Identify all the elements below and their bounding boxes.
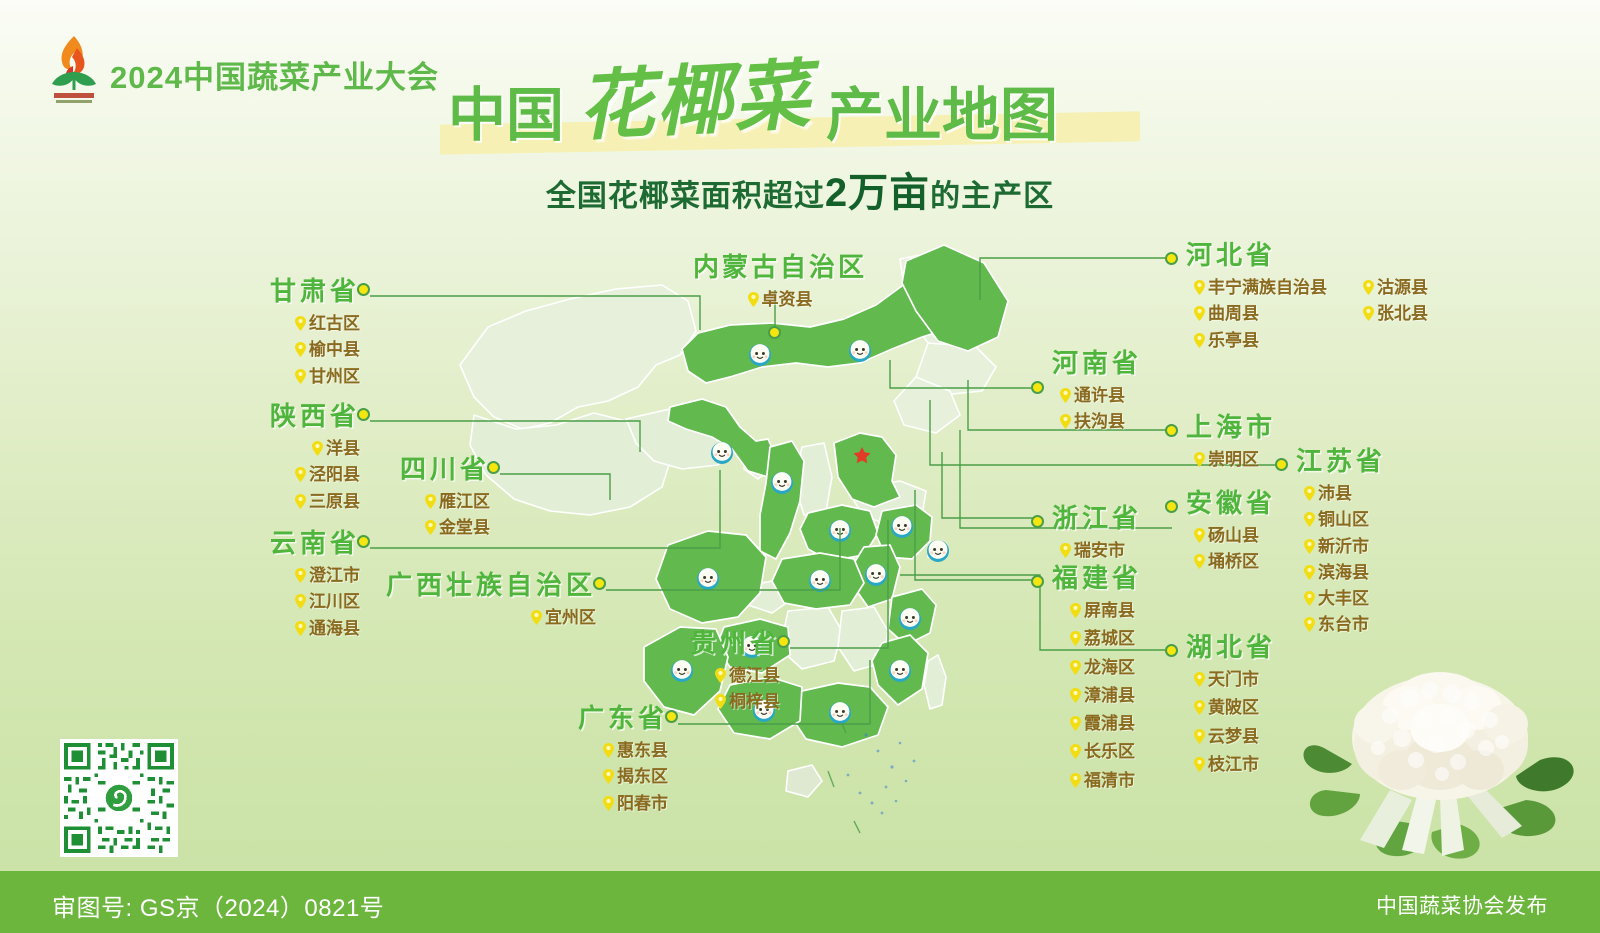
province-name: 河北省 (1186, 242, 1428, 268)
city-label: 阳春市 (617, 793, 668, 814)
map-pin-icon (748, 292, 759, 307)
city-item[interactable]: 雁江区 (425, 491, 490, 512)
city-label: 沽源县 (1377, 277, 1428, 298)
map-pin-icon (1070, 603, 1081, 618)
map-pin-icon (1060, 414, 1071, 429)
city-item[interactable]: 通许县 (1060, 385, 1142, 406)
city-list: 红古区 榆中县 甘州区 (110, 313, 360, 387)
city-list: 屏南县 荔城区 龙海区 漳浦县 霞浦县 长乐区 福清市 (1070, 600, 1142, 791)
city-item[interactable]: 红古区 (295, 313, 360, 334)
city-item[interactable]: 瑞安市 (1060, 540, 1142, 561)
map-pin-icon (1070, 744, 1081, 759)
city-item[interactable]: 云梦县 (1194, 726, 1276, 747)
flame-leaf-logo-icon (44, 32, 104, 108)
city-list: 通许县 扶沟县 (1060, 385, 1142, 433)
map-pin-icon (1194, 333, 1205, 348)
province-group-fujian[interactable]: 福建省 屏南县 荔城区 龙海区 漳浦县 霞浦县 长乐区 福清市 (1052, 565, 1142, 791)
map-pin-icon (1304, 486, 1315, 501)
province-group-shanghai[interactable]: 上海市 崇明区 (1186, 414, 1276, 470)
map-pin-icon (1363, 306, 1374, 321)
city-label: 崇明区 (1208, 449, 1259, 470)
map-pin-icon (1194, 306, 1205, 321)
province-node[interactable] (665, 710, 678, 723)
province-node[interactable] (357, 408, 370, 421)
city-list: 丰宁满族自治县 沽源县 曲周县 张北县 乐亭县 (1194, 277, 1428, 351)
province-name: 湖北省 (1186, 634, 1276, 660)
publisher-label: 中国蔬菜协会发布 (1376, 890, 1548, 920)
city-item[interactable]: 天门市 (1194, 669, 1276, 690)
province-node[interactable] (777, 635, 790, 648)
province-name: 浙江省 (1052, 505, 1142, 531)
map-pin-icon (1194, 700, 1205, 715)
map-pin-icon (1194, 757, 1205, 772)
city-label: 丰宁满族自治县 (1208, 277, 1327, 298)
city-label: 榆中县 (309, 339, 360, 360)
map-pin-icon (1070, 688, 1081, 703)
city-list: 卓资县 (660, 289, 900, 310)
province-node[interactable] (1031, 575, 1044, 588)
map-pin-icon (1194, 528, 1205, 543)
city-item[interactable]: 新沂市 (1304, 536, 1386, 557)
city-label: 新沂市 (1318, 536, 1369, 557)
city-item[interactable]: 甘州区 (295, 366, 360, 387)
city-item[interactable]: 榆中县 (295, 339, 360, 360)
province-node[interactable] (357, 283, 370, 296)
province-name: 贵州省 (550, 630, 780, 656)
city-item[interactable]: 揭东区 (603, 766, 668, 787)
map-pin-icon (603, 796, 614, 811)
province-name: 江苏省 (1296, 448, 1386, 474)
province-group-anhui[interactable]: 安徽省 砀山县 埇桥区 (1186, 490, 1276, 573)
map-pin-icon (425, 520, 436, 535)
map-pin-icon (295, 342, 306, 357)
city-label: 黄陂区 (1208, 697, 1259, 718)
city-label: 云梦县 (1208, 726, 1259, 747)
city-list: 惠东县 揭东区 阳春市 (438, 740, 668, 814)
map-pin-icon (1304, 512, 1315, 527)
city-item[interactable]: 铜山区 (1304, 509, 1386, 530)
province-group-guangxi[interactable]: 广西壮族自治区 宜州区 (196, 572, 596, 628)
province-group-hebei[interactable]: 河北省 丰宁满族自治县 沽源县 曲周县 张北县 乐亭县 (1186, 242, 1428, 351)
map-pin-icon (1060, 543, 1071, 558)
city-label: 砀山县 (1208, 525, 1259, 546)
city-item[interactable]: 沛县 (1304, 483, 1386, 504)
city-item[interactable]: 宜州区 (531, 607, 596, 628)
city-label: 宜州区 (545, 607, 596, 628)
map-pin-icon (1070, 660, 1081, 675)
city-item[interactable]: 霞浦县 (1070, 713, 1142, 734)
footer-bar: 审图号: GS京（2024）0821号 中国蔬菜协会发布 (0, 871, 1600, 933)
city-item[interactable]: 阳春市 (603, 793, 668, 814)
city-label: 沛县 (1318, 483, 1352, 504)
province-group-neimenggu[interactable]: 内蒙古自治区 卓资县 (660, 254, 900, 310)
province-name: 甘肃省 (110, 278, 360, 304)
map-pin-icon (1194, 729, 1205, 744)
map-pin-icon (1304, 617, 1315, 632)
city-label: 扶沟县 (1074, 411, 1125, 432)
map-pin-icon (312, 441, 323, 456)
map-pin-icon (1194, 672, 1205, 687)
map-pin-icon (1194, 452, 1205, 467)
city-label: 龙海区 (1084, 657, 1135, 678)
city-label: 漳浦县 (1084, 685, 1135, 706)
map-pin-icon (1060, 388, 1071, 403)
city-item[interactable]: 崇明区 (1194, 449, 1276, 470)
city-label: 枝江市 (1208, 754, 1259, 775)
city-item[interactable]: 长乐区 (1070, 741, 1142, 762)
map-pin-icon (1070, 631, 1081, 646)
city-item[interactable]: 张北县 (1363, 303, 1428, 324)
title-part-2: 花椰菜 (576, 57, 814, 145)
province-node[interactable] (768, 326, 781, 339)
map-pin-icon (425, 494, 436, 509)
province-node[interactable] (1165, 644, 1178, 657)
city-item[interactable]: 大丰区 (1304, 588, 1386, 609)
city-item[interactable]: 滨海县 (1304, 562, 1386, 583)
city-item[interactable]: 丰宁满族自治县 (1194, 277, 1327, 298)
title-part-1: 中国 (448, 87, 564, 145)
city-item[interactable]: 桐梓县 (715, 691, 780, 712)
map-pin-icon (295, 369, 306, 384)
city-list: 宜州区 (196, 607, 596, 628)
province-group-gansu[interactable]: 甘肃省 红古区 榆中县 甘州区 (110, 278, 360, 387)
province-name: 广西壮族自治区 (196, 572, 596, 598)
map-pin-icon (1304, 539, 1315, 554)
province-node[interactable] (1165, 500, 1178, 513)
city-item[interactable]: 东台市 (1304, 614, 1386, 635)
province-group-henan[interactable]: 河南省 通许县 扶沟县 (1052, 350, 1142, 433)
province-name: 河南省 (1052, 350, 1142, 376)
city-item[interactable]: 埇桥区 (1194, 551, 1276, 572)
city-label: 红古区 (309, 313, 360, 334)
city-label: 惠东县 (617, 740, 668, 761)
province-group-jiangsu[interactable]: 江苏省 沛县 铜山区 新沂市 滨海县 大丰区 东台市 (1296, 448, 1386, 636)
subtitle: 全国花椰菜面积超过2万亩的主产区 (0, 160, 1600, 218)
map-pin-icon (1194, 280, 1205, 295)
city-list: 天门市 黄陂区 云梦县 枝江市 (1194, 669, 1276, 775)
city-item[interactable]: 曲周县 (1194, 303, 1327, 324)
province-group-guangdong[interactable]: 广东省 惠东县 揭东区 阳春市 (438, 705, 668, 814)
main-title: 中国 花椰菜 产业地图 (448, 55, 1168, 145)
province-group-hubei[interactable]: 湖北省 天门市 黄陂区 云梦县 枝江市 (1186, 634, 1276, 775)
city-label: 德江县 (729, 665, 780, 686)
map-pin-icon (1070, 716, 1081, 731)
city-item[interactable]: 荔城区 (1070, 628, 1142, 649)
map-pin-icon (295, 316, 306, 331)
city-list: 崇明区 (1194, 449, 1276, 470)
city-item[interactable]: 福清市 (1070, 770, 1142, 791)
city-item[interactable]: 枝江市 (1194, 754, 1276, 775)
city-label: 揭东区 (617, 766, 668, 787)
province-group-zhejiang[interactable]: 浙江省 瑞安市 (1052, 505, 1142, 561)
city-label: 卓资县 (762, 289, 813, 310)
qr-code-icon[interactable] (60, 739, 178, 857)
subtitle-emphasis: 2万亩 (825, 171, 930, 215)
city-list: 雁江区 金堂县 (250, 491, 490, 539)
province-node[interactable] (1275, 458, 1288, 471)
province-group-sichuan[interactable]: 四川省 雁江区 金堂县 (250, 456, 490, 539)
province-name: 内蒙古自治区 (660, 254, 900, 280)
city-label: 金堂县 (439, 517, 490, 538)
city-list: 砀山县 埇桥区 (1194, 525, 1276, 573)
city-label: 滨海县 (1318, 562, 1369, 583)
cauliflower-photo-icon (1290, 650, 1590, 865)
city-label: 大丰区 (1318, 588, 1369, 609)
map-pin-icon (715, 668, 726, 683)
city-label: 曲周县 (1208, 303, 1259, 324)
city-item[interactable]: 龙海区 (1070, 657, 1142, 678)
city-label: 乐亭县 (1208, 330, 1259, 351)
city-item[interactable]: 漳浦县 (1070, 685, 1142, 706)
city-item[interactable]: 乐亭县 (1194, 330, 1327, 351)
infographic-poster: 2024中国蔬菜产业大会 中国 花椰菜 产业地图 全国花椰菜面积超过2万亩的主产… (0, 0, 1600, 933)
province-name: 广东省 (438, 705, 668, 731)
city-label: 霞浦县 (1084, 713, 1135, 734)
city-label: 天门市 (1208, 669, 1259, 690)
province-group-guizhou[interactable]: 贵州省 德江县 桐梓县 (550, 630, 780, 713)
approval-number: 审图号: GS京（2024）0821号 (52, 888, 384, 923)
province-name: 福建省 (1052, 565, 1142, 591)
city-label: 埇桥区 (1208, 551, 1259, 572)
city-item[interactable]: 砀山县 (1194, 525, 1276, 546)
city-list: 沛县 铜山区 新沂市 滨海县 大丰区 东台市 (1304, 483, 1386, 636)
city-label: 荔城区 (1084, 628, 1135, 649)
map-pin-icon (603, 769, 614, 784)
map-pin-icon (715, 694, 726, 709)
subtitle-post: 的主产区 (930, 180, 1054, 213)
map-pin-icon (531, 610, 542, 625)
map-pin-icon (1363, 280, 1374, 295)
city-item[interactable]: 德江县 (715, 665, 780, 686)
city-label: 张北县 (1377, 303, 1428, 324)
city-label: 东台市 (1318, 614, 1369, 635)
province-name: 四川省 (250, 456, 490, 482)
province-node[interactable] (1165, 424, 1178, 437)
city-label: 屏南县 (1084, 600, 1135, 621)
province-name: 上海市 (1186, 414, 1276, 440)
city-label: 长乐区 (1084, 741, 1135, 762)
province-name: 安徽省 (1186, 490, 1276, 516)
city-label: 铜山区 (1318, 509, 1369, 530)
city-item[interactable]: 沽源县 (1363, 277, 1428, 298)
conference-title: 2024中国蔬菜产业大会 (110, 52, 439, 97)
city-item[interactable]: 金堂县 (425, 517, 490, 538)
city-label: 瑞安市 (1074, 540, 1125, 561)
province-node[interactable] (1031, 515, 1044, 528)
map-pin-icon (1070, 773, 1081, 788)
map-pin-icon (1304, 591, 1315, 606)
province-node[interactable] (593, 577, 606, 590)
subtitle-pre: 全国花椰菜面积超过 (546, 180, 825, 213)
province-name: 陕西省 (110, 403, 360, 429)
title-part-3: 产业地图 (826, 87, 1058, 145)
map-pin-icon (1194, 554, 1205, 569)
city-label: 甘州区 (309, 366, 360, 387)
city-item[interactable]: 黄陂区 (1194, 697, 1276, 718)
map-pin-icon (1304, 565, 1315, 580)
province-node[interactable] (1031, 381, 1044, 394)
city-item[interactable]: 卓资县 (748, 289, 813, 310)
province-node[interactable] (1165, 252, 1178, 265)
city-label: 福清市 (1084, 770, 1135, 791)
city-item[interactable]: 惠东县 (603, 740, 668, 761)
city-list: 瑞安市 (1060, 540, 1142, 561)
map-pin-icon (603, 743, 614, 758)
city-item[interactable]: 扶沟县 (1060, 411, 1142, 432)
province-node[interactable] (487, 461, 500, 474)
city-label: 雁江区 (439, 491, 490, 512)
city-label: 通许县 (1074, 385, 1125, 406)
city-label: 桐梓县 (729, 691, 780, 712)
city-item[interactable]: 屏南县 (1070, 600, 1142, 621)
